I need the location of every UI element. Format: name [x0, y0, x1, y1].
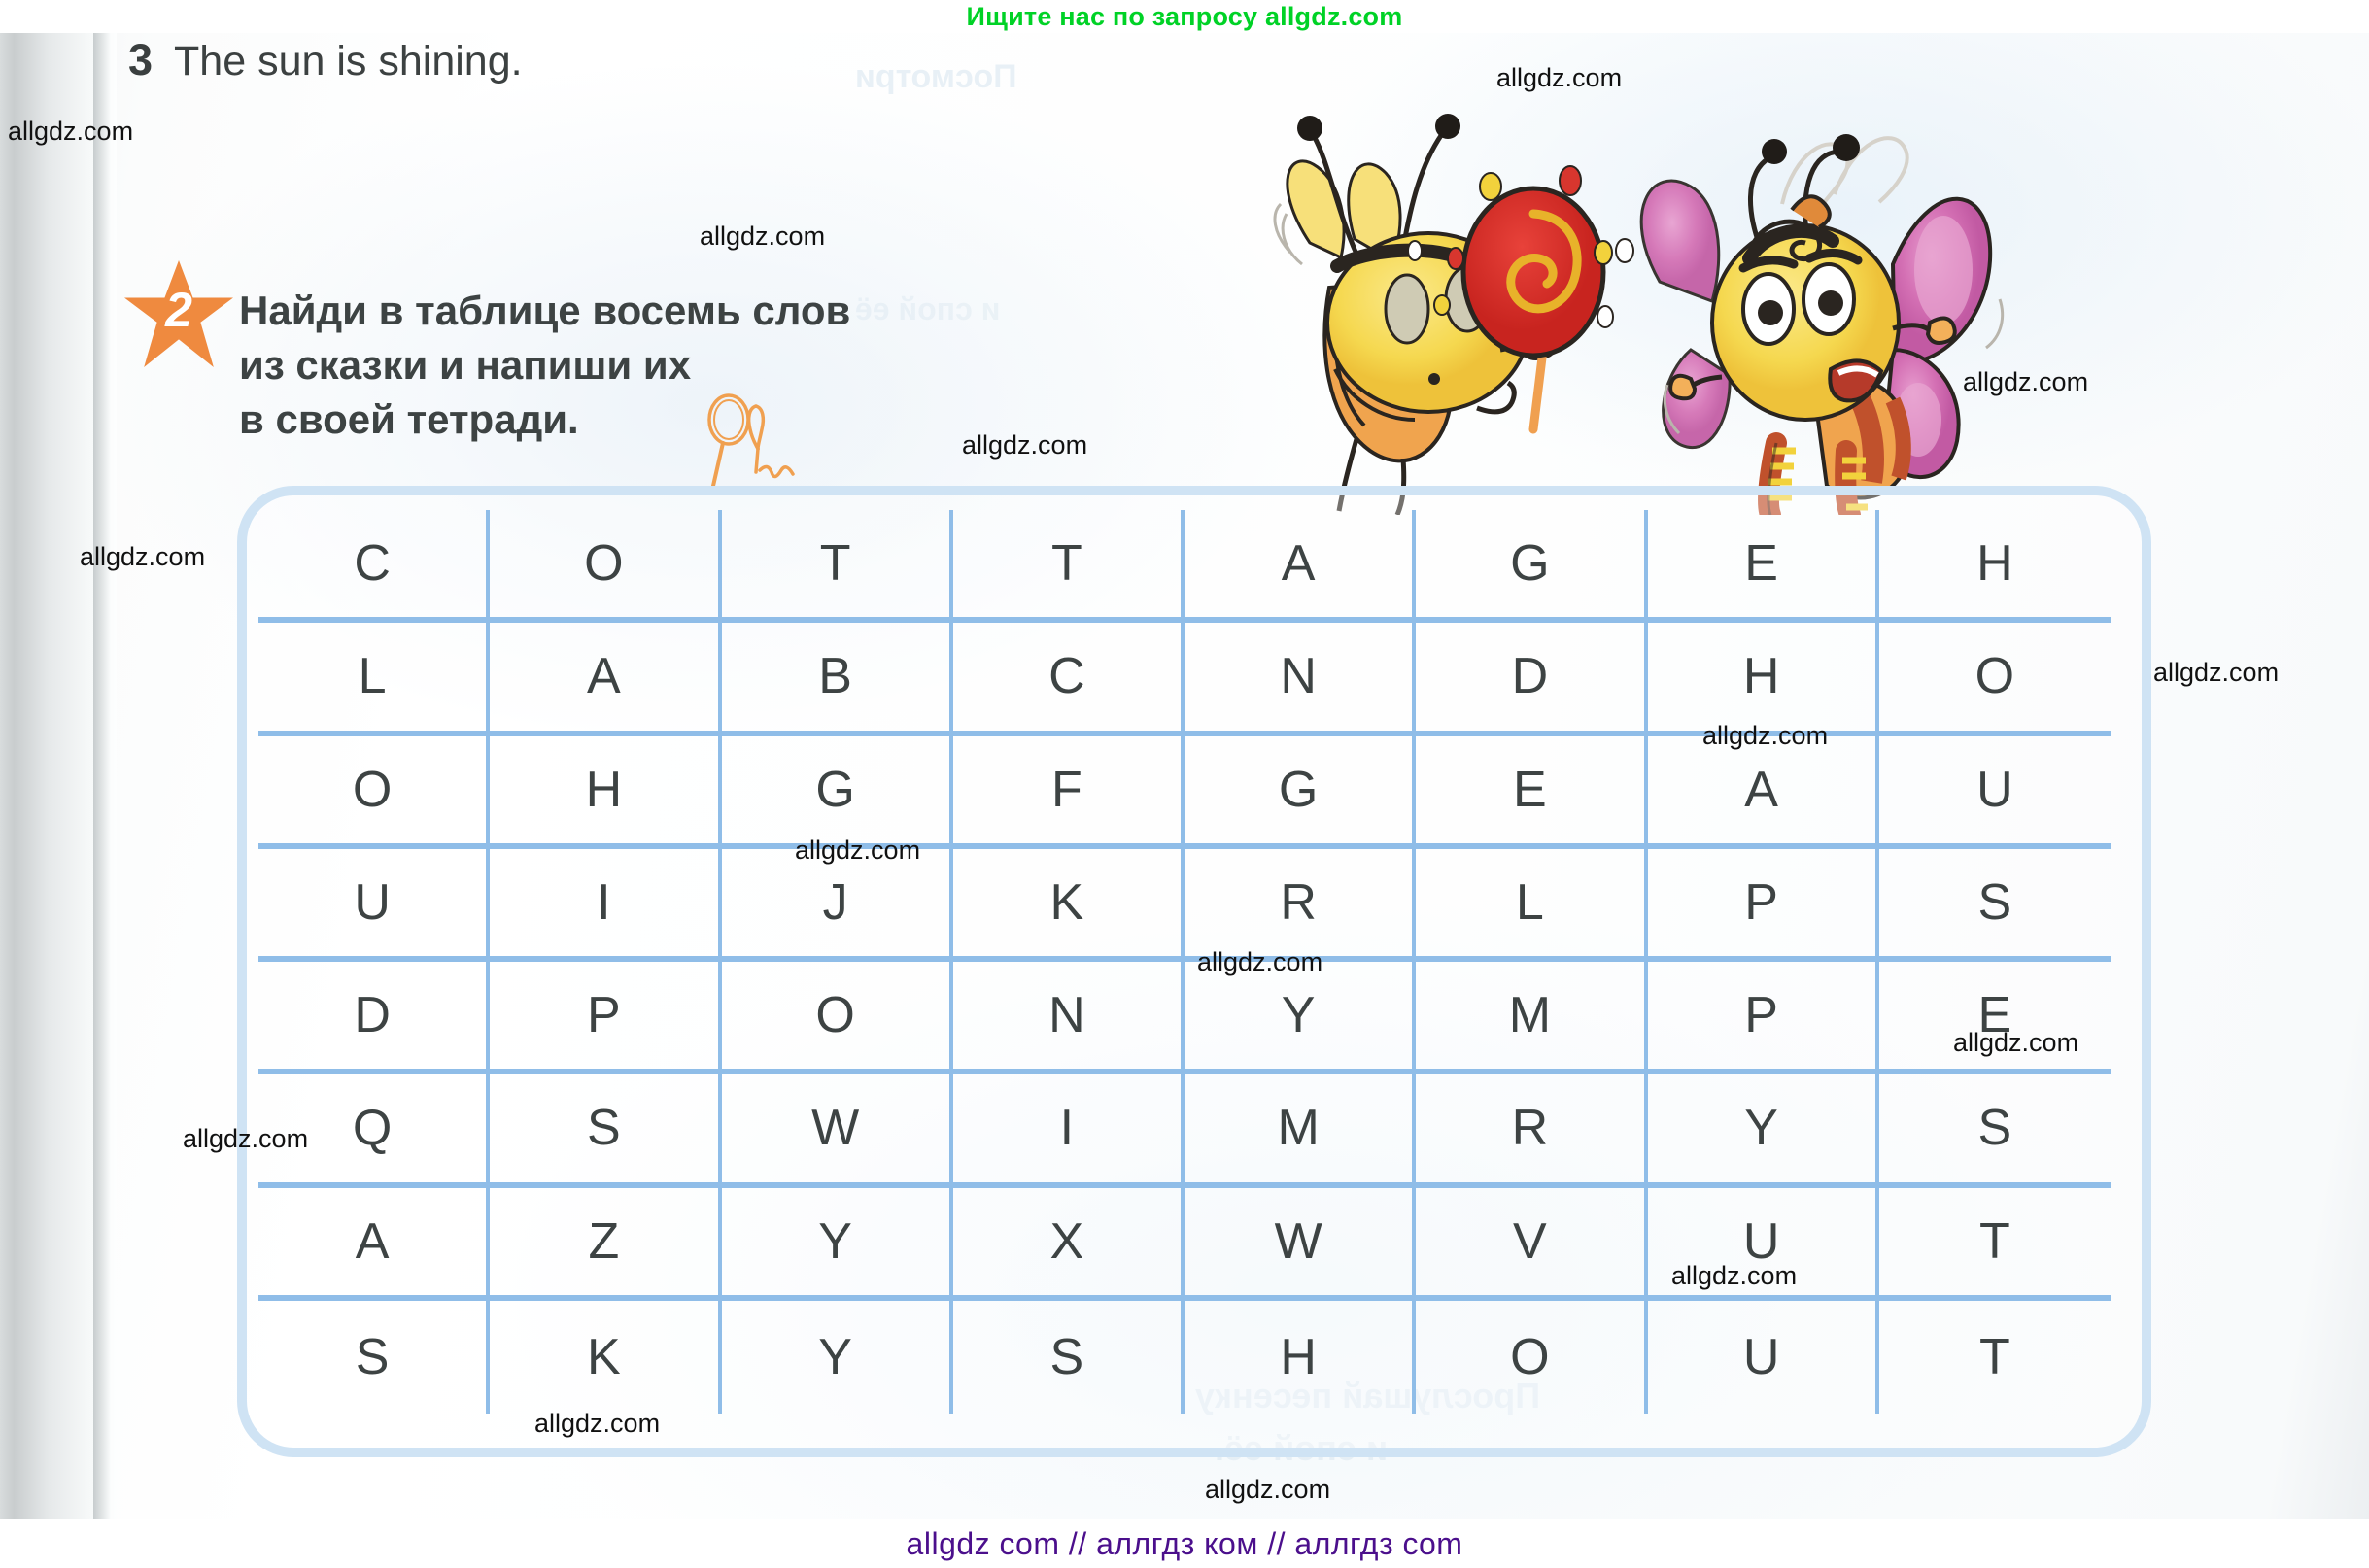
grid-cell-r4-c8[interactable]: S: [1879, 849, 2111, 962]
grid-cell-r7-c3[interactable]: Y: [722, 1188, 953, 1301]
ghost-text-top: Посмотри: [855, 58, 1017, 96]
grid-cell-r8-c7[interactable]: U: [1648, 1301, 1879, 1414]
grid-cell-r7-c5[interactable]: W: [1184, 1188, 1416, 1301]
grid-cell-r6-c2[interactable]: S: [490, 1074, 721, 1187]
exercise-3-heading: 3 The sun is shining.: [128, 35, 523, 85]
watermark-7: allgdz.com: [80, 542, 205, 572]
grid-cell-r4-c2[interactable]: I: [490, 849, 721, 962]
grid-cell-r7-c8[interactable]: T: [1879, 1188, 2111, 1301]
watermark-10: allgdz.com: [1197, 947, 1322, 977]
watermark-13: allgdz.com: [1671, 1261, 1797, 1291]
grid-cell-r2-c2[interactable]: A: [490, 623, 721, 735]
grid-cell-r2-c8[interactable]: O: [1879, 623, 2111, 735]
grid-cell-r7-c2[interactable]: Z: [490, 1188, 721, 1301]
grid-cell-r5-c5[interactable]: Y: [1184, 962, 1416, 1074]
grid-cell-r1-c5[interactable]: A: [1184, 510, 1416, 623]
watermark-3: allgdz.com: [1496, 63, 1622, 93]
watermark-12: allgdz.com: [183, 1124, 308, 1154]
exercise-3-number: 3: [128, 35, 153, 85]
watermark-9: allgdz.com: [795, 835, 920, 866]
grid-cell-r3-c5[interactable]: G: [1184, 736, 1416, 849]
grid-cell-r4-c1[interactable]: U: [258, 849, 490, 962]
grid-cell-r8-c6[interactable]: O: [1416, 1301, 1647, 1414]
instruction-line-2: из сказки и напиши их: [239, 338, 1114, 392]
grid-cell-r7-c1[interactable]: A: [258, 1188, 490, 1301]
grid-cell-r1-c6[interactable]: G: [1416, 510, 1647, 623]
grid-cell-r5-c3[interactable]: O: [722, 962, 953, 1074]
grid-cell-r4-c5[interactable]: R: [1184, 849, 1416, 962]
grid-cell-r2-c4[interactable]: C: [953, 623, 1184, 735]
grid-cell-r4-c4[interactable]: K: [953, 849, 1184, 962]
grid-cell-r3-c7[interactable]: A: [1648, 736, 1879, 849]
top-promo-banner: Ищите нас по запросу allgdz.com: [0, 0, 2369, 33]
watermark-15: allgdz.com: [1205, 1475, 1330, 1505]
grid-cell-r6-c7[interactable]: Y: [1648, 1074, 1879, 1187]
grid-cell-r8-c5[interactable]: H: [1184, 1301, 1416, 1414]
grid-cell-r8-c2[interactable]: K: [490, 1301, 721, 1414]
grid-cell-r3-c1[interactable]: O: [258, 736, 490, 849]
grid-cell-r4-c7[interactable]: P: [1648, 849, 1879, 962]
grid-cell-r6-c8[interactable]: S: [1879, 1074, 2111, 1187]
exercise-2-instruction: Найди в таблице восемь слов из сказки и …: [239, 284, 1114, 447]
instruction-line-1: Найди в таблице восемь слов: [239, 284, 1114, 338]
bottom-promo-banner: allgdz com // аллгдз ком // аллгдз com: [0, 1519, 2369, 1568]
grid-cell-r3-c2[interactable]: H: [490, 736, 721, 849]
watermark-1: allgdz.com: [8, 117, 133, 147]
magnifier-pencil-doodle: [696, 389, 822, 495]
grid-cell-r8-c3[interactable]: Y: [722, 1301, 953, 1414]
grid-cell-r6-c3[interactable]: W: [722, 1074, 953, 1187]
grid-cell-r2-c7[interactable]: H: [1648, 623, 1879, 735]
bees-illustration: [1213, 58, 2009, 515]
grid-cell-r3-c8[interactable]: U: [1879, 736, 2111, 849]
top-banner-text: Ищите нас по запросу allgdz.com: [967, 2, 1403, 32]
grid-cell-r2-c6[interactable]: D: [1416, 623, 1647, 735]
grid-cell-r8-c4[interactable]: S: [953, 1301, 1184, 1414]
grid-cell-r6-c4[interactable]: I: [953, 1074, 1184, 1187]
watermark-11: allgdz.com: [1953, 1028, 2078, 1058]
grid-cell-r4-c3[interactable]: J: [722, 849, 953, 962]
grid-cell-r5-c7[interactable]: P: [1648, 962, 1879, 1074]
grid-cell-r1-c4[interactable]: T: [953, 510, 1184, 623]
grid-cell-r7-c6[interactable]: V: [1416, 1188, 1647, 1301]
watermark-6: allgdz.com: [2153, 658, 2279, 688]
grid-cell-r1-c3[interactable]: T: [722, 510, 953, 623]
grid-cell-r8-c8[interactable]: T: [1879, 1301, 2111, 1414]
grid-cell-r5-c6[interactable]: M: [1416, 962, 1647, 1074]
grid-cell-r8-c1[interactable]: S: [258, 1301, 490, 1414]
bee-left: [1275, 114, 1633, 515]
grid-cell-r3-c6[interactable]: E: [1416, 736, 1647, 849]
grid-cell-r4-c6[interactable]: L: [1416, 849, 1647, 962]
grid-cell-r7-c4[interactable]: X: [953, 1188, 1184, 1301]
watermark-5: allgdz.com: [1963, 367, 2088, 397]
grid-cell-r5-c4[interactable]: N: [953, 962, 1184, 1074]
grid-cell-r2-c3[interactable]: B: [722, 623, 953, 735]
grid-cell-r6-c6[interactable]: R: [1416, 1074, 1647, 1187]
watermark-8: allgdz.com: [1702, 721, 1828, 751]
grid-cell-r3-c4[interactable]: F: [953, 736, 1184, 849]
grid-cell-r1-c8[interactable]: H: [1879, 510, 2111, 623]
grid-cell-r5-c1[interactable]: D: [258, 962, 490, 1074]
word-search-grid[interactable]: COTTAGEHLABCNDHOOHGFGEAUUIJKRLPSDPONYMPE…: [258, 510, 2111, 1414]
bottom-banner-text: allgdz com // аллгдз ком // аллгдз com: [907, 1526, 1463, 1562]
watermark-2: allgdz.com: [700, 222, 825, 252]
watermark-4: allgdz.com: [962, 430, 1087, 460]
exercise-3-text: The sun is shining.: [174, 38, 523, 85]
exercise-2-number: 2: [124, 282, 233, 338]
grid-cell-r1-c7[interactable]: E: [1648, 510, 1879, 623]
watermark-14: allgdz.com: [534, 1409, 660, 1439]
grid-cell-r3-c3[interactable]: G: [722, 736, 953, 849]
bee-right: [1641, 134, 2002, 515]
grid-cell-r1-c2[interactable]: O: [490, 510, 721, 623]
grid-cell-r2-c1[interactable]: L: [258, 623, 490, 735]
grid-cell-r5-c2[interactable]: P: [490, 962, 721, 1074]
grid-cell-r2-c5[interactable]: N: [1184, 623, 1416, 735]
grid-cell-r6-c5[interactable]: M: [1184, 1074, 1416, 1187]
book-gutter-edge: [93, 33, 111, 1519]
exercise-2-star-badge: 2: [124, 260, 233, 367]
grid-cell-r1-c1[interactable]: C: [258, 510, 490, 623]
